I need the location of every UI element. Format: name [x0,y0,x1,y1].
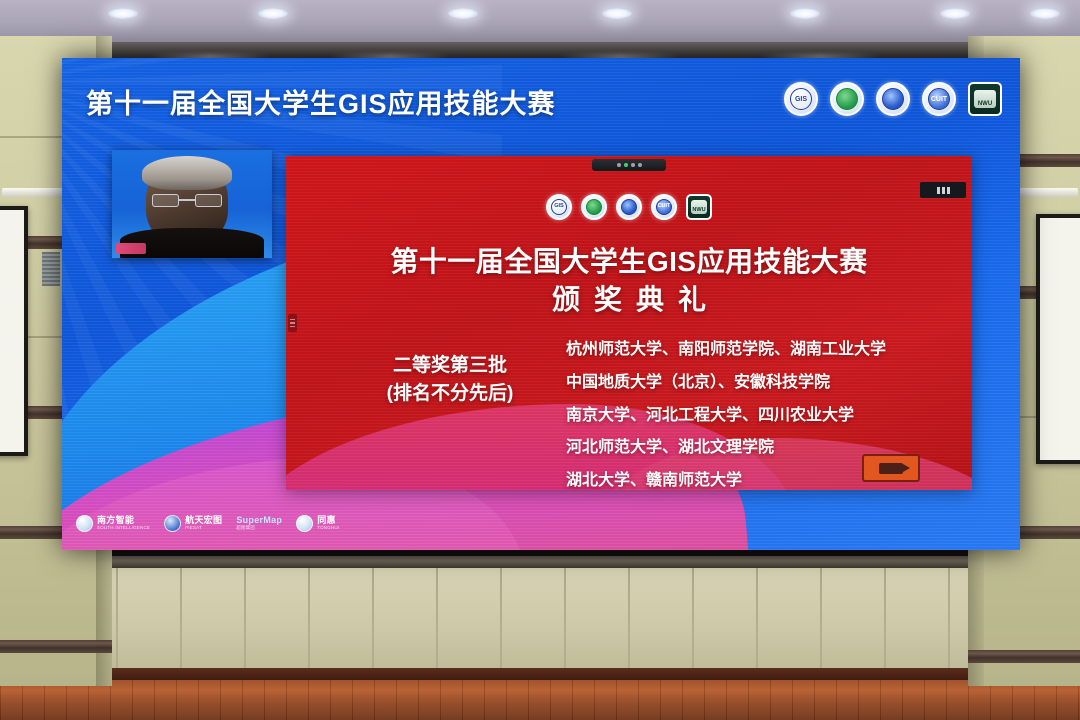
toolbar-dot-active [624,163,628,167]
list-item: 中国地质大学（北京）、安徽科技学院 [566,367,950,400]
list-item: 南京大学、河北工程大学、四川农业大学 [566,400,950,433]
sponsor-mark-icon [164,515,181,532]
wall-framed-panel [1036,214,1080,464]
video-name-chip [116,243,146,254]
video-camera-icon [879,463,903,474]
sponsor-name-en: SOUTH INTELLIGENCE [97,526,150,531]
gis-logo: GIS [784,82,818,116]
panel-seam [308,564,310,672]
sponsor-mark-icon [76,515,93,532]
blue-emblem-logo [616,194,642,220]
sponsor-name: 超图集团 [236,526,282,531]
nwu-logo: NWU [968,82,1002,116]
sponsor-item: 同惠 TONGHUI [296,515,339,532]
cuit-logo: CUIT [651,194,677,220]
award-category-line2: (排名不分先后) [360,380,540,408]
blue-emblem-logo [876,82,910,116]
ceiling-light [108,8,138,19]
conference-room-photo: 第十一届全国大学生GIS应用技能大赛 GIS CUIT NWU [0,0,1080,720]
panel-seam [692,564,694,672]
remote-participant-video[interactable] [112,150,272,258]
gis-logo: GIS [546,194,572,220]
sponsor-item: SuperMap 超图集团 [236,516,282,530]
sponsor-name-en: PIESAT [185,526,222,531]
badge-bar [937,187,940,194]
sponsor-item: 南方智能 SOUTH INTELLIGENCE [76,515,150,532]
ceiling-light [940,8,970,19]
badge-bar [947,187,950,194]
ceiling [0,0,1080,46]
nwu-logo: NWU [686,194,712,220]
meeting-toolbar[interactable] [592,159,666,171]
panel-seam [500,564,502,672]
ceiling-light [790,8,820,19]
panel-seam [756,564,758,672]
presentation-slide[interactable]: GIS CUIT NWU 第十一届全国大学生GIS应用技能大赛 颁奖典礼 二等奖… [286,156,972,490]
banner-title: 第十一届全国大学生GIS应用技能大赛 [86,82,556,121]
wainscot-cap [56,556,1024,568]
ceiling-light [258,8,288,19]
panel-seam [884,564,886,672]
sponsor-name-en: TONGHUI [317,526,339,531]
wall-marble-band [968,650,1080,663]
green-globe-logo [830,82,864,116]
panel-seam [180,564,182,672]
panel-seam [372,564,374,672]
camera-indicator[interactable] [862,454,920,482]
slide-heading-ceremony: 颁奖典礼 [286,278,972,318]
panel-seam [116,564,118,672]
ceiling-light [1030,8,1060,19]
panel-seam [244,564,246,672]
banner-logo-row: GIS CUIT NWU [784,82,1002,116]
award-category-label: 二等奖第三批 (排名不分先后) [360,352,540,407]
toolbar-dot [631,163,635,167]
wooden-floor [0,680,1080,720]
slide-logo-row: GIS CUIT NWU [286,194,972,220]
sponsor-item: 航天宏图 PIESAT [164,515,222,532]
wall-framed-panel [0,206,28,456]
panel-seam [564,564,566,672]
panel-seam [628,564,630,672]
wall-vent [42,252,60,286]
participant-hair [142,156,232,190]
list-item: 杭州师范大学、南阳师范学院、湖南工业大学 [566,334,950,367]
floor-grain [0,680,1080,720]
panel-seam [436,564,438,672]
led-video-wall[interactable]: 第十一届全国大学生GIS应用技能大赛 GIS CUIT NWU [62,58,1020,550]
wall-marble-band [0,640,112,653]
toolbar-dot [617,163,621,167]
award-category-line1: 二等奖第三批 [360,352,540,380]
green-globe-logo [581,194,607,220]
sponsor-logo-row: 南方智能 SOUTH INTELLIGENCE 航天宏图 PIESAT Supe… [76,515,339,532]
ceiling-light [602,8,632,19]
ceiling-light [448,8,478,19]
slide-heading-competition: 第十一届全国大学生GIS应用技能大赛 [286,240,972,280]
lower-wall-panels [56,564,1024,672]
glasses-icon [152,194,222,207]
toolbar-dot [638,163,642,167]
panel-seam [820,564,822,672]
badge-bar [942,187,945,194]
panel-seam [948,564,950,672]
cuit-logo: CUIT [922,82,956,116]
sponsor-mark-icon [296,515,313,532]
